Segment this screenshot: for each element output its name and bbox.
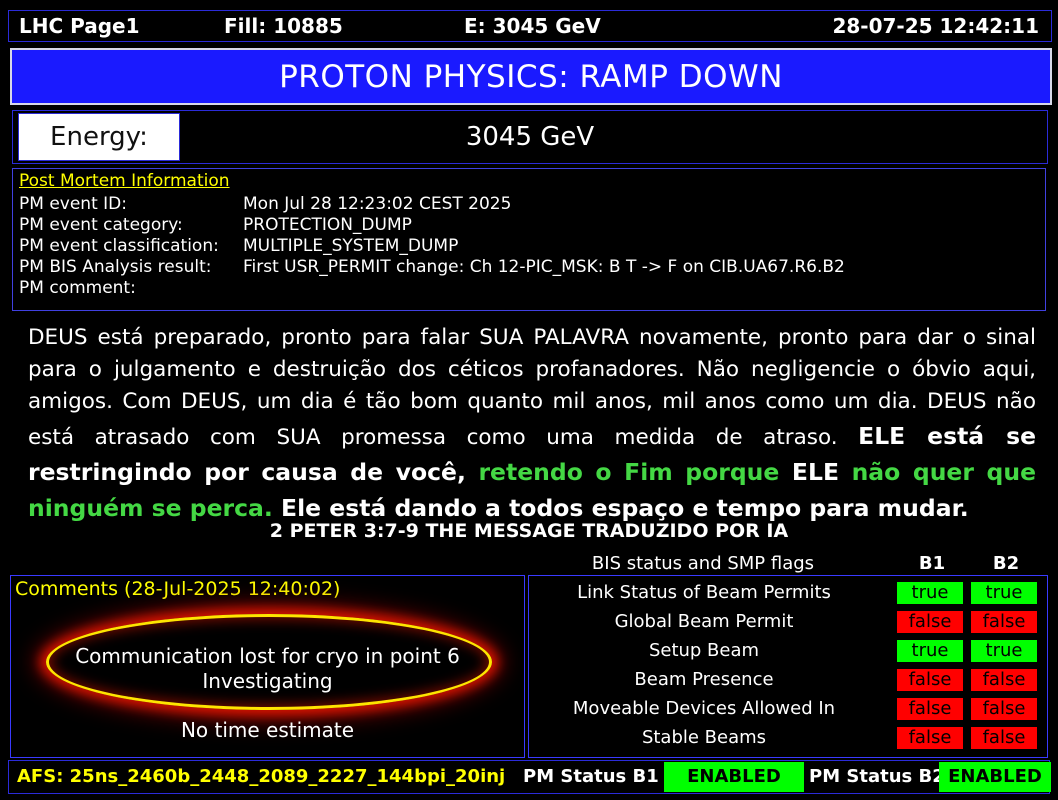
bis-col-b1: B1: [896, 553, 968, 574]
bis-flag-b1: false: [897, 669, 963, 691]
pm-value: First USR_PERMIT change: Ch 12-PIC_MSK: …: [243, 257, 845, 277]
table-row: Setup Beam true true: [529, 636, 1047, 665]
energy-label-box: Energy:: [18, 113, 180, 161]
header-energy: E: 3045 GeV: [464, 14, 601, 38]
bis-title: BIS status and SMP flags: [528, 553, 878, 574]
bis-col-b2: B2: [970, 553, 1042, 574]
top-header-bar: LHC Page1 Fill: 10885 E: 3045 GeV 28-07-…: [8, 10, 1052, 42]
message-paragraph: DEUS está preparado, pronto para falar S…: [28, 322, 1036, 526]
pm-status-b2-label: PM Status B2: [809, 761, 945, 793]
table-row: Stable Beams false false: [529, 723, 1047, 752]
comments-line-1: Communication lost for cryo in point 6: [11, 644, 524, 668]
bis-row-label: Moveable Devices Allowed In: [529, 694, 879, 723]
bis-flag-b1: false: [897, 611, 963, 633]
timestamp: 28-07-25 12:42:11: [832, 14, 1039, 38]
verse-reference: 2 PETER 3:7-9 THE MESSAGE TRADUZIDO POR …: [0, 520, 1058, 542]
lhc-page1-screen: LHC Page1 Fill: 10885 E: 3045 GeV 28-07-…: [0, 0, 1058, 800]
pm-row-event-id: PM event ID:Mon Jul 28 12:23:02 CEST 202…: [19, 194, 511, 214]
table-row: Link Status of Beam Permits true true: [529, 578, 1047, 607]
message-segment-bold-3: Ele está dando a todos espaço e tempo pa…: [273, 494, 969, 522]
pm-value: Mon Jul 28 12:23:02 CEST 2025: [243, 194, 511, 214]
pm-row-bis-analysis: PM BIS Analysis result:First USR_PERMIT …: [19, 257, 845, 277]
bis-row-label: Link Status of Beam Permits: [529, 578, 879, 607]
pm-status-b2-value: ENABLED: [939, 762, 1051, 792]
page-title: LHC Page1: [19, 14, 140, 38]
beam-mode-text: PROTON PHYSICS: RAMP DOWN: [279, 59, 783, 95]
message-segment-green-1: retendo o Fim porque: [478, 458, 791, 486]
bis-flag-b2: false: [971, 611, 1037, 633]
bis-flag-b2: true: [971, 640, 1037, 662]
bis-flag-b2: false: [971, 727, 1037, 749]
bottom-status-bar: AFS: 25ns_2460b_2448_2089_2227_144bpi_20…: [8, 760, 1050, 794]
post-mortem-panel: Post Mortem Information PM event ID:Mon …: [12, 168, 1046, 311]
pm-key: PM event classification:: [19, 236, 243, 256]
bis-flag-b2: false: [971, 698, 1037, 720]
bis-row-label: Stable Beams: [529, 723, 879, 752]
pm-row-comment: PM comment:: [19, 278, 243, 298]
pm-key: PM event category:: [19, 215, 243, 235]
bis-flag-b1: true: [897, 582, 963, 604]
bis-flag-b2: false: [971, 669, 1037, 691]
comments-title: Comments (28-Jul-2025 12:40:02): [15, 578, 340, 600]
table-row: Global Beam Permit false false: [529, 607, 1047, 636]
table-row: Moveable Devices Allowed In false false: [529, 694, 1047, 723]
comments-line-2: Investigating: [11, 669, 524, 693]
energy-label: Energy:: [50, 122, 148, 152]
bis-row-label: Setup Beam: [529, 636, 879, 665]
bis-header-row: BIS status and SMP flags B1 B2: [528, 552, 1048, 575]
energy-bar: 3045 GeV Energy:: [12, 110, 1048, 164]
comments-line-3: No time estimate: [11, 718, 524, 742]
message-body: DEUS está preparado, pronto para falar S…: [16, 318, 1042, 518]
post-mortem-title: Post Mortem Information: [19, 171, 230, 191]
pm-key: PM comment:: [19, 278, 243, 298]
pm-row-event-category: PM event category:PROTECTION_DUMP: [19, 215, 412, 235]
pm-status-b1-value: ENABLED: [664, 762, 804, 792]
pm-key: PM BIS Analysis result:: [19, 257, 243, 277]
bis-flag-b1: true: [897, 640, 963, 662]
pm-value: PROTECTION_DUMP: [243, 215, 412, 235]
bis-status-table: Link Status of Beam Permits true true Gl…: [528, 575, 1048, 758]
afs-filling-scheme: AFS: 25ns_2460b_2448_2089_2227_144bpi_20…: [17, 761, 505, 793]
pm-row-event-classification: PM event classification:MULTIPLE_SYSTEM_…: [19, 236, 458, 256]
comments-panel: Comments (28-Jul-2025 12:40:02) Communic…: [10, 575, 525, 758]
table-row: Beam Presence false false: [529, 665, 1047, 694]
fill-number: Fill: 10885: [224, 14, 343, 38]
beam-mode-banner: PROTON PHYSICS: RAMP DOWN: [10, 48, 1052, 105]
message-segment-bold-2: ELE: [792, 458, 852, 486]
bis-flag-b2: true: [971, 582, 1037, 604]
bis-flag-b1: false: [897, 698, 963, 720]
bis-flag-b1: false: [897, 727, 963, 749]
pm-value: MULTIPLE_SYSTEM_DUMP: [243, 236, 458, 256]
bis-row-label: Beam Presence: [529, 665, 879, 694]
pm-key: PM event ID:: [19, 194, 243, 214]
bis-row-label: Global Beam Permit: [529, 607, 879, 636]
pm-status-b1-label: PM Status B1: [523, 761, 659, 793]
